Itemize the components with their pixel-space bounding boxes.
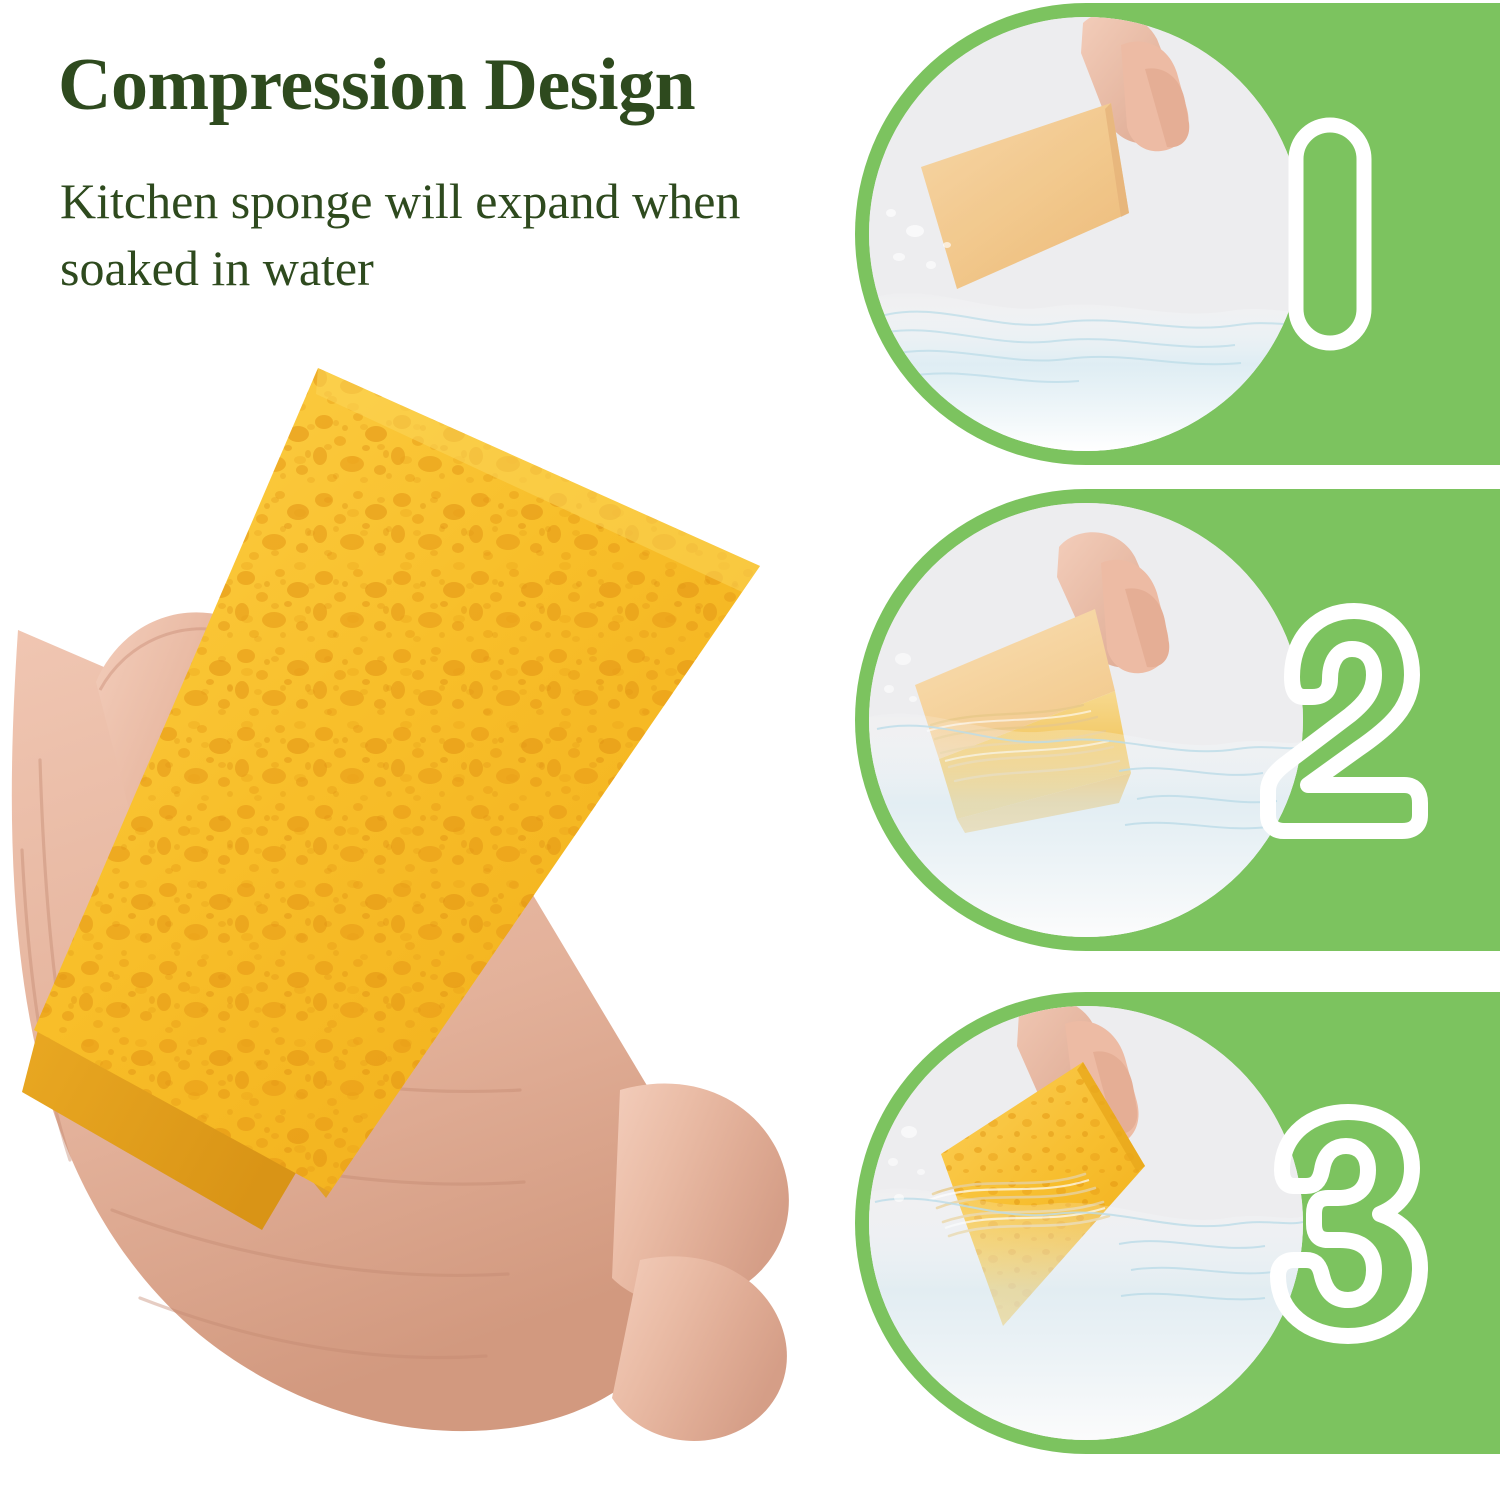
- step-1-numeral: [1254, 109, 1434, 359]
- page-subtitle: Kitchen sponge will expand when soaked i…: [60, 168, 830, 302]
- step-panel-1: [855, 3, 1500, 465]
- step-2-numeral: [1254, 595, 1434, 845]
- step-2-image: [869, 503, 1303, 937]
- step-3-numeral: [1254, 1098, 1434, 1348]
- step-1-image: [869, 17, 1303, 451]
- step-3-image: [869, 1006, 1303, 1440]
- step-panel-3: [855, 992, 1500, 1454]
- page-title: Compression Design: [58, 48, 848, 123]
- hero-image-hand-with-sponge: [0, 330, 860, 1490]
- step-panel-2: [855, 489, 1500, 951]
